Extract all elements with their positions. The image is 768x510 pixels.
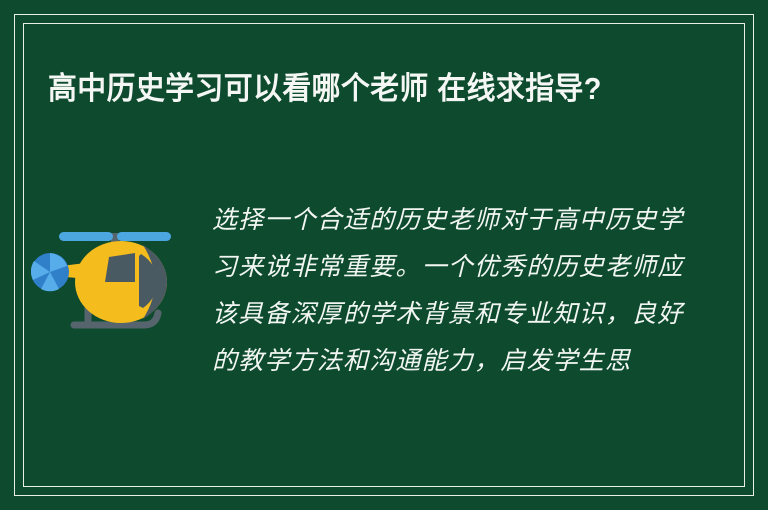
content-row: 选择一个合适的历史老师对于高中历史学习来说非常重要。一个优秀的历史老师应该具备深… (0, 196, 768, 384)
article-card: 高中历史学习可以看哪个老师 在线求指导? (0, 0, 768, 510)
illustration-container (0, 196, 212, 335)
tail-rotor-icon (31, 253, 69, 291)
article-paragraph: 选择一个合适的历史老师对于高中历史学习来说非常重要。一个优秀的历史老师应该具备深… (212, 196, 768, 384)
helicopter-icon (31, 220, 181, 335)
page-title: 高中历史学习可以看哪个老师 在线求指导? (48, 64, 615, 114)
